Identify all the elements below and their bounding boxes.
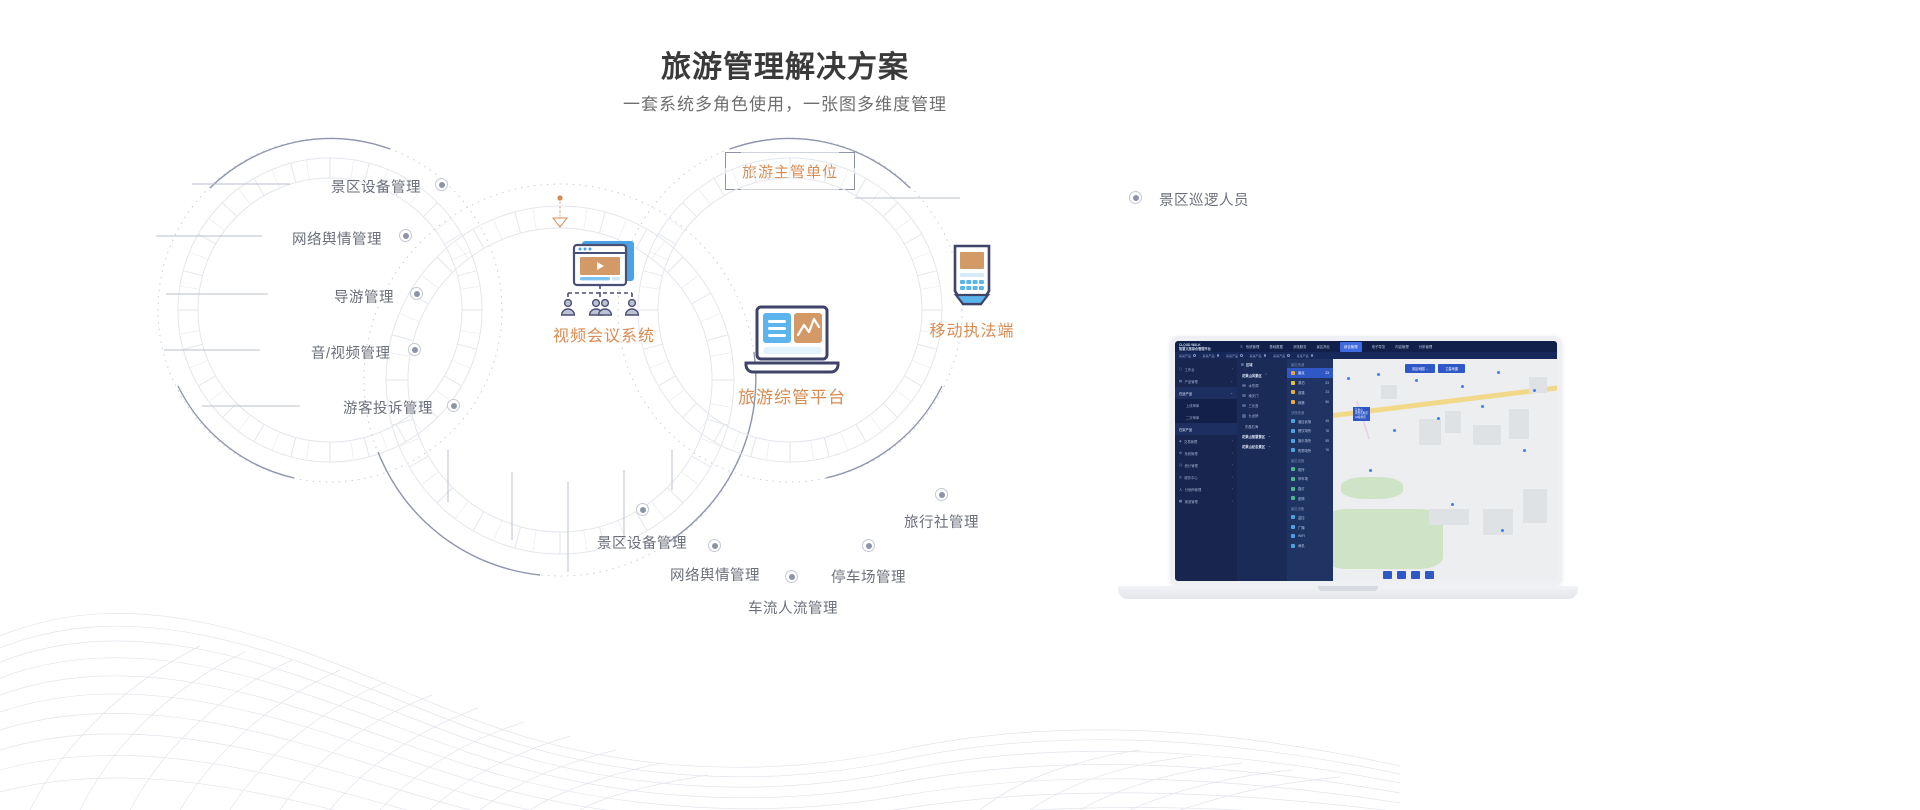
chip-close-icon-2[interactable] — [1240, 354, 1243, 357]
map-tool-2[interactable] — [1397, 571, 1406, 579]
layer-label: 景点 — [1298, 370, 1305, 375]
layer-label: 闸机 — [1298, 543, 1305, 548]
layer-item-shopping[interactable]: 购物场所76 — [1287, 445, 1333, 455]
node-label-traffic-flow: 车流人流管理 — [748, 597, 838, 618]
layer-item-dining[interactable]: 餐饮场所78 — [1287, 426, 1333, 436]
layer-item-gate[interactable]: 闸机 — [1287, 541, 1333, 551]
ring-label-video-conference: 视频会议系统 — [504, 322, 704, 346]
venn-ring-diagram — [0, 120, 1120, 650]
layer-count: 56 — [1325, 400, 1329, 404]
region-label-6: 花果山智慧景区 — [1242, 434, 1265, 439]
tab-basic-data[interactable]: 基础数据 — [1269, 344, 1283, 349]
sidebar-item-shelf-products[interactable]: 在架产品 — [1175, 423, 1237, 435]
layer-swatch — [1291, 477, 1295, 481]
layer-item-broadcast[interactable]: 广播 — [1287, 522, 1333, 532]
region-row-0[interactable]: 花果山风景区⌃ — [1237, 370, 1287, 380]
map-tooltip-line-3: 3A级景区 — [1355, 416, 1368, 420]
dashboard-top-menu: 系统管理 基础数据 涉旅服务 景区商业 综合管理 电子导览 内容管理 分析管理 — [1246, 342, 1433, 352]
layer-count: 76 — [1325, 448, 1329, 452]
chip-5[interactable]: 某某产品 — [1297, 354, 1314, 358]
region-label-1: 水帘洞 — [1249, 383, 1259, 388]
sidebar-item-channel-management[interactable]: ▦渠道管理› — [1175, 495, 1237, 507]
video-window-icon — [556, 235, 652, 317]
map-layer-panel: 景区资源 景点23 湖泊23 道路23 网格56 涉旅资源 酒店民宿45 餐饮场… — [1287, 359, 1333, 581]
sidebar-label-10: 分销商管理 — [1185, 487, 1201, 492]
map-block-5 — [1429, 509, 1469, 525]
dashboard-logo: CLOUD WALK 智慧文旅综合管理平台 — [1175, 343, 1237, 351]
node-label-scenic-device-left: 景区设备管理 — [331, 176, 421, 197]
layer-item-grid[interactable]: 网格56 — [1287, 397, 1333, 407]
chip-close-icon-3[interactable] — [1264, 354, 1267, 357]
sidebar-item-online-review[interactable]: 上线审单 — [1175, 399, 1237, 411]
node-dot-network-sentiment-bottom[interactable] — [708, 539, 721, 552]
layer-count: 45 — [1325, 419, 1329, 423]
ring-label-tourism-platform: 旅游综管平台 — [692, 383, 892, 408]
layer-label: 网格 — [1298, 400, 1305, 405]
region-row-1[interactable]: 水帘洞 — [1237, 380, 1287, 390]
map-button-satellite-map[interactable]: 卫星地图 — [1438, 364, 1465, 373]
left-connector-lines — [156, 184, 300, 406]
page-subtitle: 一套系统多角色使用，一张图多维度管理 — [0, 90, 1570, 115]
layer-label: 道路 — [1298, 390, 1305, 395]
region-row-7[interactable]: 花果山纪念景区⌄ — [1237, 441, 1287, 451]
tab-scenic-commerce[interactable]: 景区商业 — [1316, 344, 1330, 349]
list-icon: ☰ — [1241, 363, 1244, 367]
map-pin-4[interactable] — [1461, 385, 1464, 388]
region-caret-0: ⌃ — [1265, 373, 1268, 377]
chip-label-4: 某某产品 — [1273, 354, 1285, 358]
map-pin-2[interactable] — [1377, 373, 1380, 376]
node-label-travel-agency: 旅行社管理 — [904, 511, 979, 532]
chip-3[interactable]: 某某产品 — [1250, 354, 1267, 358]
node-label-network-sentiment-bottom: 网络舆情管理 — [670, 564, 760, 585]
sidebar-item-service-center[interactable]: ◎服务中心› — [1175, 471, 1237, 483]
handheld-device-icon — [947, 243, 997, 313]
map-pin-13[interactable] — [1501, 529, 1504, 532]
chip-4[interactable]: 某某产品 — [1273, 354, 1290, 358]
hamburger-icon[interactable]: ☰ — [1237, 345, 1246, 349]
chip-2[interactable]: 某某产品 — [1226, 354, 1243, 358]
layer-group-3-title: 景区设备 — [1287, 503, 1333, 512]
region-label-0: 花果山风景区 — [1242, 373, 1262, 378]
layer-item-road[interactable]: 道路23 — [1287, 388, 1333, 398]
layer-item-scenic-spot[interactable]: 景点23 — [1287, 368, 1333, 378]
map-pin-12[interactable] — [1451, 503, 1454, 506]
sidebar-item-secondary-review[interactable]: 二次审单 — [1175, 411, 1237, 423]
laptop-mockup: CLOUD WALK 智慧文旅综合管理平台 ☰ 系统管理 基础数据 涉旅服务 景… — [1118, 336, 1578, 626]
layer-swatch — [1291, 544, 1295, 548]
region-label-7: 花果山纪念景区 — [1242, 444, 1265, 449]
layer-label: 厕所 — [1298, 467, 1305, 472]
map-pin-7[interactable] — [1393, 429, 1396, 432]
map-tool-1[interactable] — [1383, 571, 1392, 579]
map-block-4 — [1509, 409, 1529, 439]
layer-item-toilet[interactable]: 厕所 — [1287, 464, 1333, 474]
ring-label-mobile-enforcement: 移动执法端 — [872, 317, 1072, 341]
layer-label: 广播 — [1298, 525, 1305, 530]
region-row-3[interactable]: 三元宫 — [1237, 401, 1287, 411]
chip-close-icon-4[interactable] — [1287, 354, 1290, 357]
layer-swatch — [1291, 515, 1295, 519]
map-view-switch: 景区地图 ⌄ 卫星地图 — [1405, 364, 1465, 373]
left-ring — [158, 138, 502, 482]
map-green-area-1 — [1341, 477, 1403, 499]
layer-count: 23 — [1325, 381, 1329, 385]
node-label-tourist-complaint: 游客投诉管理 — [343, 397, 433, 418]
layer-item-camera[interactable]: 监控 — [1287, 512, 1333, 522]
region-bullet-1 — [1242, 384, 1246, 388]
tab-content-management[interactable]: 内容管理 — [1395, 344, 1409, 349]
layer-item-entertainment[interactable]: 娱乐场所95 — [1287, 436, 1333, 446]
layer-label: 酒店民宿 — [1298, 419, 1311, 424]
node-dot-network-sentiment-left[interactable] — [399, 229, 412, 242]
layer-swatch — [1291, 381, 1295, 385]
dashboard-breadcrumb-chips: 某某产品 某某产品 某某产品 某某产品 某某产品 某某产品 — [1175, 352, 1557, 359]
map-pin-8[interactable] — [1437, 417, 1440, 420]
sidebar-caret-0: › — [1232, 367, 1233, 371]
sidebar-label-0: 工作台 — [1185, 367, 1195, 372]
node-label-parking-lot: 停车场管理 — [831, 566, 906, 587]
layer-label: 座椅 — [1298, 496, 1305, 501]
sidebar-caret-8: › — [1232, 463, 1233, 467]
map-pin-1[interactable] — [1347, 377, 1350, 380]
tab-tourism-service[interactable]: 涉旅服务 — [1293, 344, 1307, 349]
sidebar-caret-2: ⌄ — [1230, 391, 1233, 395]
node-dot-scenic-patrol[interactable] — [1129, 191, 1142, 204]
region-caret-7: ⌄ — [1268, 444, 1271, 448]
layer-swatch — [1291, 429, 1295, 433]
sidebar-item-product-management[interactable]: ▤产品管理⌄ — [1175, 375, 1237, 387]
node-label-guide-management: 导游管理 — [334, 286, 394, 307]
chip-label-1: 某某产品 — [1203, 354, 1215, 358]
chip-label-3: 某某产品 — [1250, 354, 1262, 358]
map-block-9 — [1529, 377, 1547, 393]
region-bullet-4 — [1242, 414, 1246, 418]
region-row-2[interactable]: 南天门 — [1237, 390, 1287, 400]
sidebar-label-2: 在途产品 — [1179, 391, 1192, 396]
layer-count: 95 — [1325, 439, 1329, 443]
layer-swatch — [1291, 439, 1295, 443]
map-tool-4[interactable] — [1425, 571, 1434, 579]
map-pin-11[interactable] — [1369, 469, 1372, 472]
layer-swatch — [1291, 487, 1295, 491]
map-pin-10[interactable] — [1523, 449, 1526, 452]
tab-comprehensive-management[interactable]: 综合管理 — [1340, 342, 1362, 352]
sidebar-label-8: 统计管理 — [1185, 463, 1198, 468]
node-label-av-management: 音/视频管理 — [311, 342, 391, 363]
layer-label: 停车场 — [1298, 476, 1308, 481]
region-label-5: 东磊石海 — [1242, 424, 1258, 429]
node-dot-scenic-device-left[interactable] — [435, 178, 448, 191]
layer-count: 23 — [1325, 390, 1329, 394]
layer-swatch — [1291, 448, 1295, 452]
sidebar-label-7: 系统管理 — [1184, 451, 1197, 456]
layer-item-lake[interactable]: 湖泊23 — [1287, 378, 1333, 388]
tab-system-management[interactable]: 系统管理 — [1246, 344, 1260, 349]
sidebar-label-3: 上线审单 — [1186, 403, 1199, 408]
dashboard-top-bar: CLOUD WALK 智慧文旅综合管理平台 ☰ 系统管理 基础数据 涉旅服务 景… — [1175, 341, 1557, 352]
sidebar-item-transaction-management[interactable]: ◈交易管理› — [1175, 435, 1237, 447]
layer-swatch — [1291, 534, 1295, 538]
map-pin-3[interactable] — [1415, 379, 1418, 382]
layer-swatch — [1291, 371, 1295, 375]
layer-group-1-title: 涉旅资源 — [1287, 407, 1333, 416]
map-block-3 — [1473, 425, 1501, 445]
region-row-5[interactable]: 东磊石海 — [1237, 421, 1287, 431]
layer-item-hotel[interactable]: 酒店民宿45 — [1287, 416, 1333, 426]
sidebar-item-distributor-management[interactable]: 人分销商管理› — [1175, 483, 1237, 495]
layer-swatch — [1291, 419, 1295, 423]
map-tooltip-line-2: 风景名胜区 — [1355, 412, 1368, 416]
region-panel-title: 区域 — [1246, 362, 1253, 367]
chip-close-icon-1[interactable] — [1217, 354, 1220, 357]
map-button-scenic-map[interactable]: 景区地图 ⌄ — [1405, 364, 1435, 373]
layer-label: 路灯 — [1298, 486, 1305, 491]
layer-label: 购物场所 — [1298, 448, 1311, 453]
layer-swatch — [1291, 496, 1295, 500]
sidebar-label-5: 在架产品 — [1179, 427, 1192, 432]
sidebar-caret-10: › — [1232, 487, 1233, 491]
map-block-8 — [1381, 385, 1397, 399]
layer-item-streetlight[interactable]: 路灯 — [1287, 484, 1333, 494]
sidebar-item-system-management[interactable]: ⚙系统管理› — [1175, 447, 1237, 459]
map-tool-3[interactable] — [1411, 571, 1420, 579]
region-label-2: 南天门 — [1249, 393, 1259, 398]
sidebar-label-1: 产品管理 — [1185, 379, 1198, 384]
node-dot-travel-agency[interactable] — [935, 488, 948, 501]
chip-1[interactable]: 某某产品 — [1203, 354, 1220, 358]
sidebar-item-in-transit-products[interactable]: 在途产品⌄ — [1175, 387, 1237, 399]
map-tooltip: 花果山 风景名胜区 3A级景区 — [1353, 407, 1370, 421]
region-caret-6: ⌄ — [1268, 434, 1271, 438]
map-block-7 — [1523, 489, 1547, 523]
sidebar-caret-1: ⌄ — [1230, 379, 1233, 383]
layer-item-wifi[interactable]: WIFI — [1287, 532, 1333, 541]
chip-label-5: 某某产品 — [1297, 354, 1309, 358]
region-panel-header: ☰区域 — [1237, 359, 1287, 370]
layer-label: 餐饮场所 — [1298, 428, 1311, 433]
chip-label-2: 某某产品 — [1226, 354, 1238, 358]
map-pin-5[interactable] — [1497, 371, 1500, 374]
logo-line-2: 智慧文旅综合管理平台 — [1179, 347, 1237, 351]
sidebar-caret-11: › — [1232, 499, 1233, 503]
map-bottom-toolbar — [1383, 571, 1434, 579]
tourism-solution-infographic: 旅游管理解决方案 一套系统多角色使用，一张图多维度管理 旅游主管单位 — [0, 0, 1920, 810]
node-dot-tourist-complaint[interactable] — [447, 399, 460, 412]
layer-group-0-title: 景区资源 — [1287, 359, 1333, 368]
map-block-6 — [1483, 509, 1513, 535]
node-dot-scenic-device-bottom[interactable] — [636, 503, 649, 516]
layer-group-2-title: 景区设施 — [1287, 455, 1333, 464]
sidebar-label-9: 服务中心 — [1184, 475, 1197, 480]
map-canvas[interactable]: 花果山 风景名胜区 3A级景区 景区地图 ⌄ 卫星地图 — [1333, 359, 1557, 581]
sidebar-caret-6: › — [1232, 439, 1233, 443]
layer-swatch — [1291, 400, 1295, 404]
laptop-notch — [1318, 586, 1378, 591]
laptop-screen: CLOUD WALK 智慧文旅综合管理平台 ☰ 系统管理 基础数据 涉旅服务 景… — [1170, 336, 1562, 586]
layer-count: 23 — [1325, 371, 1329, 375]
region-bullet-3 — [1242, 404, 1246, 408]
map-green-area-2 — [1333, 509, 1443, 569]
sidebar-label-6: 交易管理 — [1184, 439, 1197, 444]
region-label-3: 三元宫 — [1249, 403, 1259, 408]
laptop-dashboard-icon — [742, 305, 842, 377]
node-label-scenic-patrol: 景区巡逻人员 — [1159, 189, 1249, 210]
page-title: 旅游管理解决方案 — [0, 42, 1570, 86]
chip-close-icon-0[interactable] — [1193, 354, 1196, 357]
sidebar-item-workbench[interactable]: ▢工作台› — [1175, 363, 1237, 375]
layer-label: 监控 — [1298, 515, 1305, 520]
layer-swatch — [1291, 525, 1295, 529]
dashboard-sidebar: ▢工作台› ▤产品管理⌄ 在途产品⌄ 上线审单 二次审单 在架产品 ◈交易管理›… — [1175, 359, 1237, 581]
chip-label-0: 某某产品 — [1179, 354, 1191, 358]
dashboard-app: CLOUD WALK 智慧文旅综合管理平台 ☰ 系统管理 基础数据 涉旅服务 景… — [1175, 341, 1557, 581]
node-dot-parking-lot[interactable] — [862, 539, 875, 552]
region-row-6[interactable]: 花果山智慧景区⌄ — [1237, 431, 1287, 441]
tab-analysis-management[interactable]: 分析管理 — [1419, 344, 1433, 349]
sidebar-caret-7: › — [1232, 451, 1233, 455]
node-label-scenic-device-bottom: 景区设备管理 — [597, 532, 687, 553]
layer-label: 湖泊 — [1298, 380, 1305, 385]
chip-close-icon-5[interactable] — [1311, 354, 1314, 357]
layer-swatch — [1291, 467, 1295, 471]
layer-swatch — [1291, 390, 1295, 394]
map-pin-9[interactable] — [1481, 405, 1484, 408]
node-dot-guide-management[interactable] — [410, 287, 423, 300]
layer-item-bench[interactable]: 座椅 — [1287, 494, 1333, 504]
map-block-1 — [1419, 419, 1441, 445]
map-pin-6[interactable] — [1533, 389, 1536, 392]
layer-item-parking[interactable]: 停车场 — [1287, 474, 1333, 484]
sidebar-item-statistics-management[interactable]: ◳统计管理› — [1175, 459, 1237, 471]
node-dot-av-management[interactable] — [408, 343, 421, 356]
region-label-4: 九龙桥 — [1249, 413, 1259, 418]
region-row-4[interactable]: 九龙桥 — [1237, 411, 1287, 421]
layer-label: WIFI — [1298, 534, 1305, 538]
layer-label: 娱乐场所 — [1298, 438, 1311, 443]
sidebar-label-4: 二次审单 — [1186, 415, 1199, 420]
region-tree-panel: ☰区域 花果山风景区⌃ 水帘洞 南天门 三元宫 九龙桥 东磊石海 花果山智慧景区… — [1237, 359, 1287, 581]
map-block-2 — [1445, 411, 1461, 433]
sidebar-label-11: 渠道管理 — [1185, 499, 1198, 504]
sidebar-caret-9: › — [1232, 475, 1233, 479]
layer-count: 78 — [1325, 429, 1329, 433]
node-dot-traffic-flow[interactable] — [785, 570, 798, 583]
region-bullet-2 — [1242, 394, 1246, 398]
tab-electronic-guide[interactable]: 电子导览 — [1372, 344, 1386, 349]
chip-0[interactable]: 某某产品 — [1179, 354, 1196, 358]
node-label-network-sentiment-left: 网络舆情管理 — [292, 228, 382, 249]
